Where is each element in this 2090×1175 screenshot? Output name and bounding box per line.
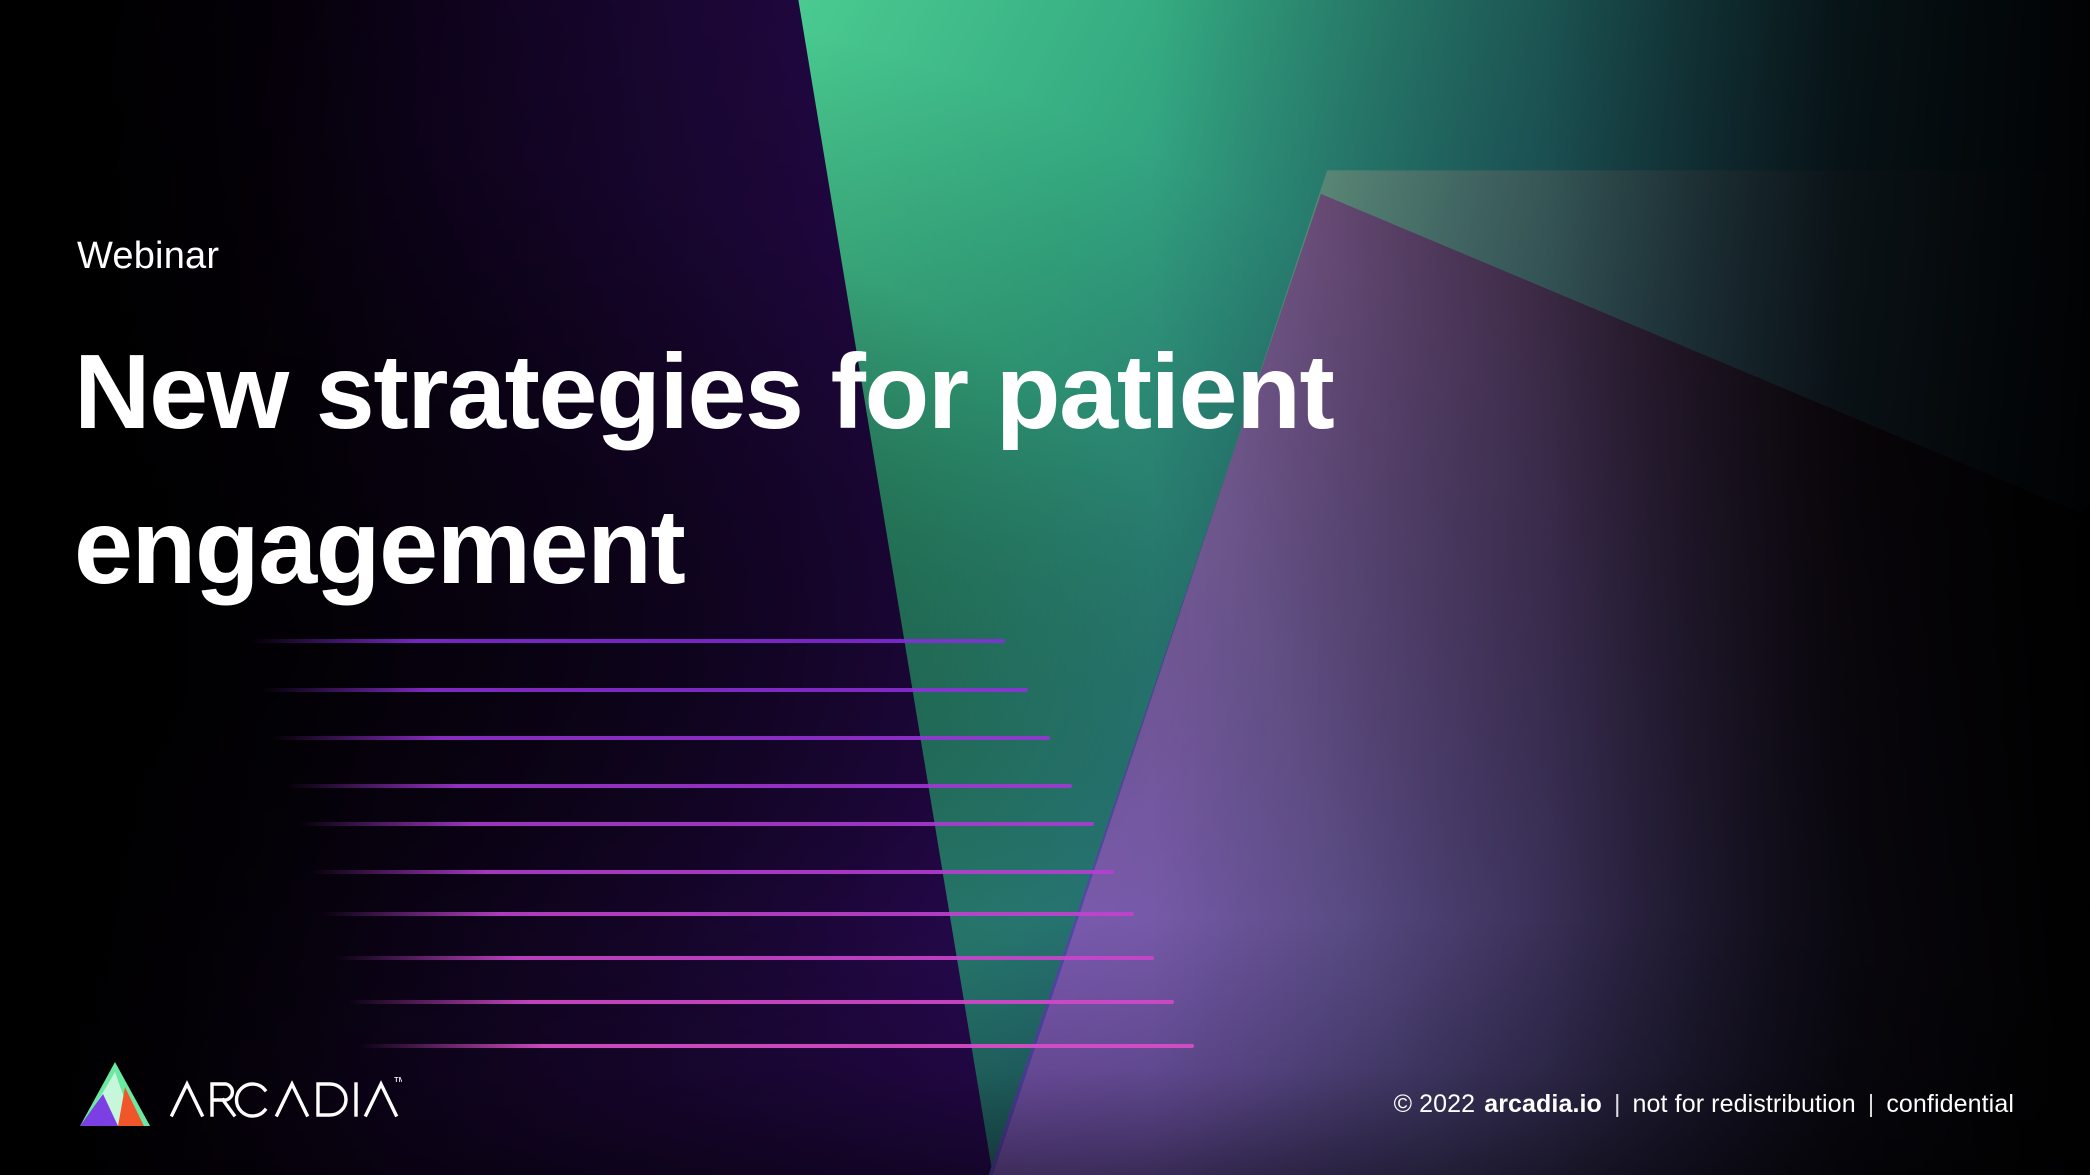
decorative-line xyxy=(360,1044,1194,1048)
svg-text:™: ™ xyxy=(393,1074,402,1089)
presentation-slide: Webinar New strategies for patient engag… xyxy=(0,0,2090,1175)
brand-logo: ™ xyxy=(78,1060,402,1133)
slide-title: New strategies for patient engagement xyxy=(74,315,1694,625)
decorative-line xyxy=(272,736,1050,740)
footer-separator-1: | xyxy=(1611,1090,1624,1119)
decorative-line xyxy=(286,784,1072,788)
footer-confidential: confidential xyxy=(1886,1090,2014,1119)
decorative-line xyxy=(250,639,1005,643)
decorative-line xyxy=(336,956,1154,960)
decorative-line xyxy=(262,688,1028,692)
arcadia-wordmark: ™ xyxy=(170,1067,402,1127)
footer-redistribution: not for redistribution xyxy=(1633,1090,1856,1119)
footer-legal-text: © 2022 arcadia.io | not for redistributi… xyxy=(1394,1090,2014,1119)
footer-copyright: © 2022 xyxy=(1394,1090,1476,1119)
footer-site: arcadia.io xyxy=(1484,1090,1602,1119)
decorative-line xyxy=(310,870,1114,874)
slide-eyebrow-label: Webinar xyxy=(77,237,219,275)
arcadia-triangle-icon xyxy=(78,1060,152,1133)
decorative-line xyxy=(322,912,1134,916)
decorative-line xyxy=(348,1000,1174,1004)
decorative-line xyxy=(298,822,1094,826)
footer-separator-2: | xyxy=(1865,1090,1878,1119)
